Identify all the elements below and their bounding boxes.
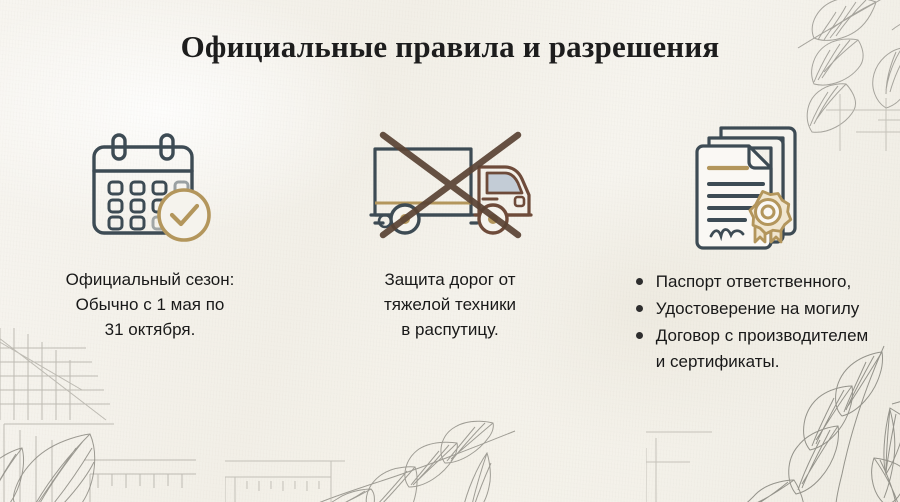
certificate-documents-icon [683,120,818,252]
content-columns: Официальный сезон: Обычно с 1 мая по 31 … [0,118,900,376]
truck-caption-line-1: Защита дорог от [384,270,515,289]
list-item: Удостоверение на могилу [634,296,868,322]
permit-item-2: Удостоверение на могилу [656,299,860,318]
calendar-check-icon [80,127,220,245]
page-title: Официальные правила и разрешения [0,29,900,65]
certificate-documents-icon-wrap [683,118,818,253]
column-heavy-vehicles: Защита дорог от тяжелой техники в распут… [300,118,600,342]
truck-caption-line-3: в распутицу. [401,320,498,339]
season-caption-line-2: Обычно с 1 мая по [76,295,225,314]
documents-caption: Паспорт ответственного, Удостоверение на… [632,269,868,376]
calendar-check-icon-wrap [80,118,220,253]
list-item: Договор с производителеми сертификаты. [634,323,868,375]
permit-item-3-cont: и сертификаты. [656,349,868,375]
truck-caption-line-2: тяжелой техники [384,295,516,314]
no-truck-icon [363,127,538,245]
season-caption-line-1: Официальный сезон: [66,270,235,289]
list-item: Паспорт ответственного, [634,269,868,295]
permit-item-1: Паспорт ответственного, [656,272,851,291]
season-caption: Официальный сезон: Обычно с 1 мая по 31 … [66,267,235,342]
season-caption-line-3: 31 октября. [105,320,196,339]
permit-list: Паспорт ответственного, Удостоверение на… [632,269,868,375]
column-documents: Паспорт ответственного, Удостоверение на… [600,118,900,376]
no-truck-icon-wrap [363,118,538,253]
olive-branch-decoration [225,409,525,502]
heavy-vehicles-caption: Защита дорог от тяжелой техники в распут… [384,267,516,342]
permit-item-3: Договор с производителем [656,326,868,345]
column-season: Официальный сезон: Обычно с 1 мая по 31 … [0,118,300,342]
